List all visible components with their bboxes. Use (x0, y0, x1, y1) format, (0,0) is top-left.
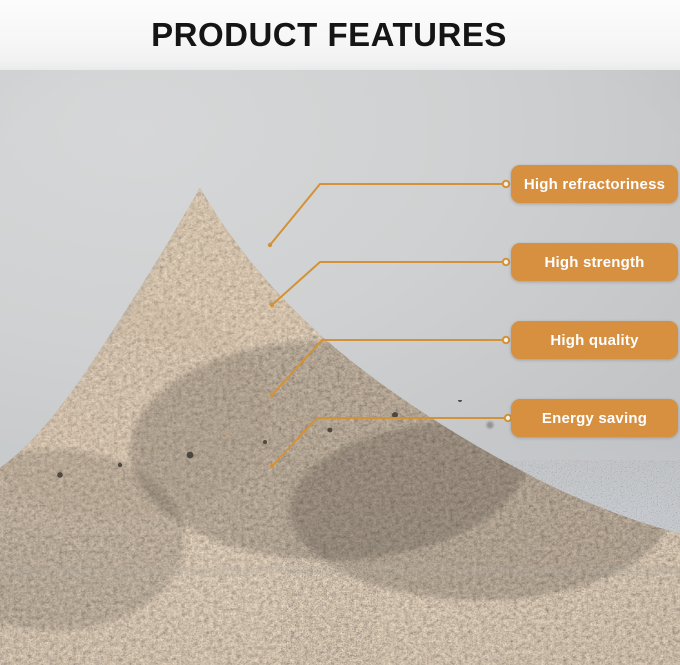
product-features-banner: PRODUCT FEATURES (0, 0, 680, 665)
header-band: PRODUCT FEATURES (0, 0, 680, 70)
callout-pill-energy-saving[interactable]: Energy saving (511, 399, 678, 437)
product-photo (0, 70, 680, 665)
callout-pill-high-refractoriness[interactable]: High refractoriness (511, 165, 678, 203)
page-title: PRODUCT FEATURES (0, 15, 680, 55)
callout-pill-high-quality[interactable]: High quality (511, 321, 678, 359)
callout-pill-high-strength[interactable]: High strength (511, 243, 678, 281)
granule-pile-image (0, 70, 680, 665)
